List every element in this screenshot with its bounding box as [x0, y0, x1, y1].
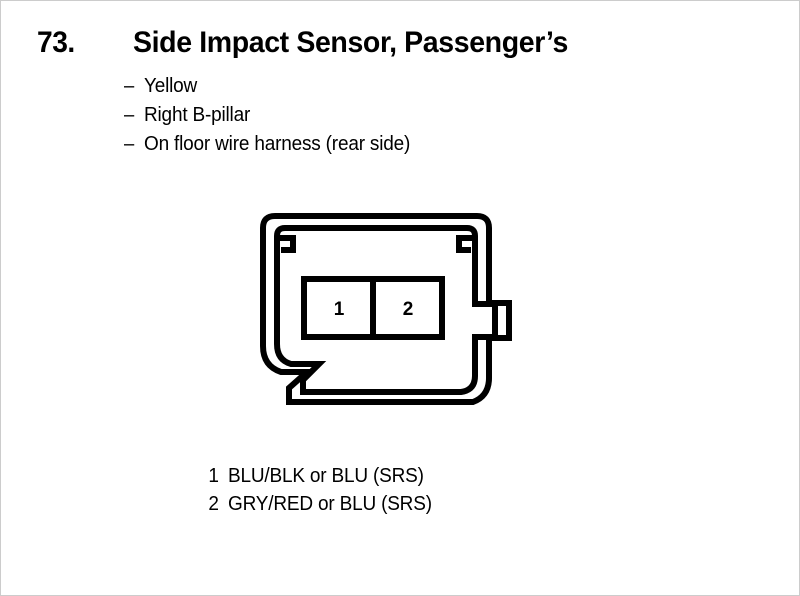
page-title: 73. Side Impact Sensor, Passenger’s — [37, 26, 591, 60]
connector-diagram: 1 2 — [229, 206, 521, 416]
terminal-legend: 1 BLU/BLK or BLU (SRS) 2 GRY/RED or BLU … — [197, 465, 497, 521]
dash-bullet-icon: – — [124, 133, 142, 156]
dash-bullet-icon: – — [124, 104, 142, 127]
spec-item-color: – Yellow — [124, 75, 424, 104]
terminal-number-2: 2 — [403, 299, 414, 320]
legend-row: 1 BLU/BLK or BLU (SRS) — [197, 465, 497, 493]
spec-label: Right B-pillar — [144, 104, 250, 127]
spec-item-location: – Right B-pillar — [124, 104, 424, 133]
legend-wire-description: GRY/RED or BLU (SRS) — [228, 493, 432, 516]
spec-label: On floor wire harness (rear side) — [144, 133, 410, 156]
legend-index: 1 — [198, 465, 219, 488]
legend-wire-description: BLU/BLK or BLU (SRS) — [228, 465, 424, 488]
dash-bullet-icon: – — [124, 75, 142, 98]
item-number: 73. — [37, 26, 75, 60]
legend-index: 2 — [198, 493, 219, 516]
spec-list: – Yellow – Right B-pillar – On floor wir… — [124, 75, 424, 162]
terminal-number-1: 1 — [334, 299, 345, 320]
spec-label: Yellow — [144, 75, 197, 98]
legend-row: 2 GRY/RED or BLU (SRS) — [197, 493, 497, 521]
diagram-page: 73. Side Impact Sensor, Passenger’s – Ye… — [0, 0, 800, 596]
spec-item-harness: – On floor wire harness (rear side) — [124, 133, 424, 162]
title-text: Side Impact Sensor, Passenger’s — [133, 26, 568, 60]
